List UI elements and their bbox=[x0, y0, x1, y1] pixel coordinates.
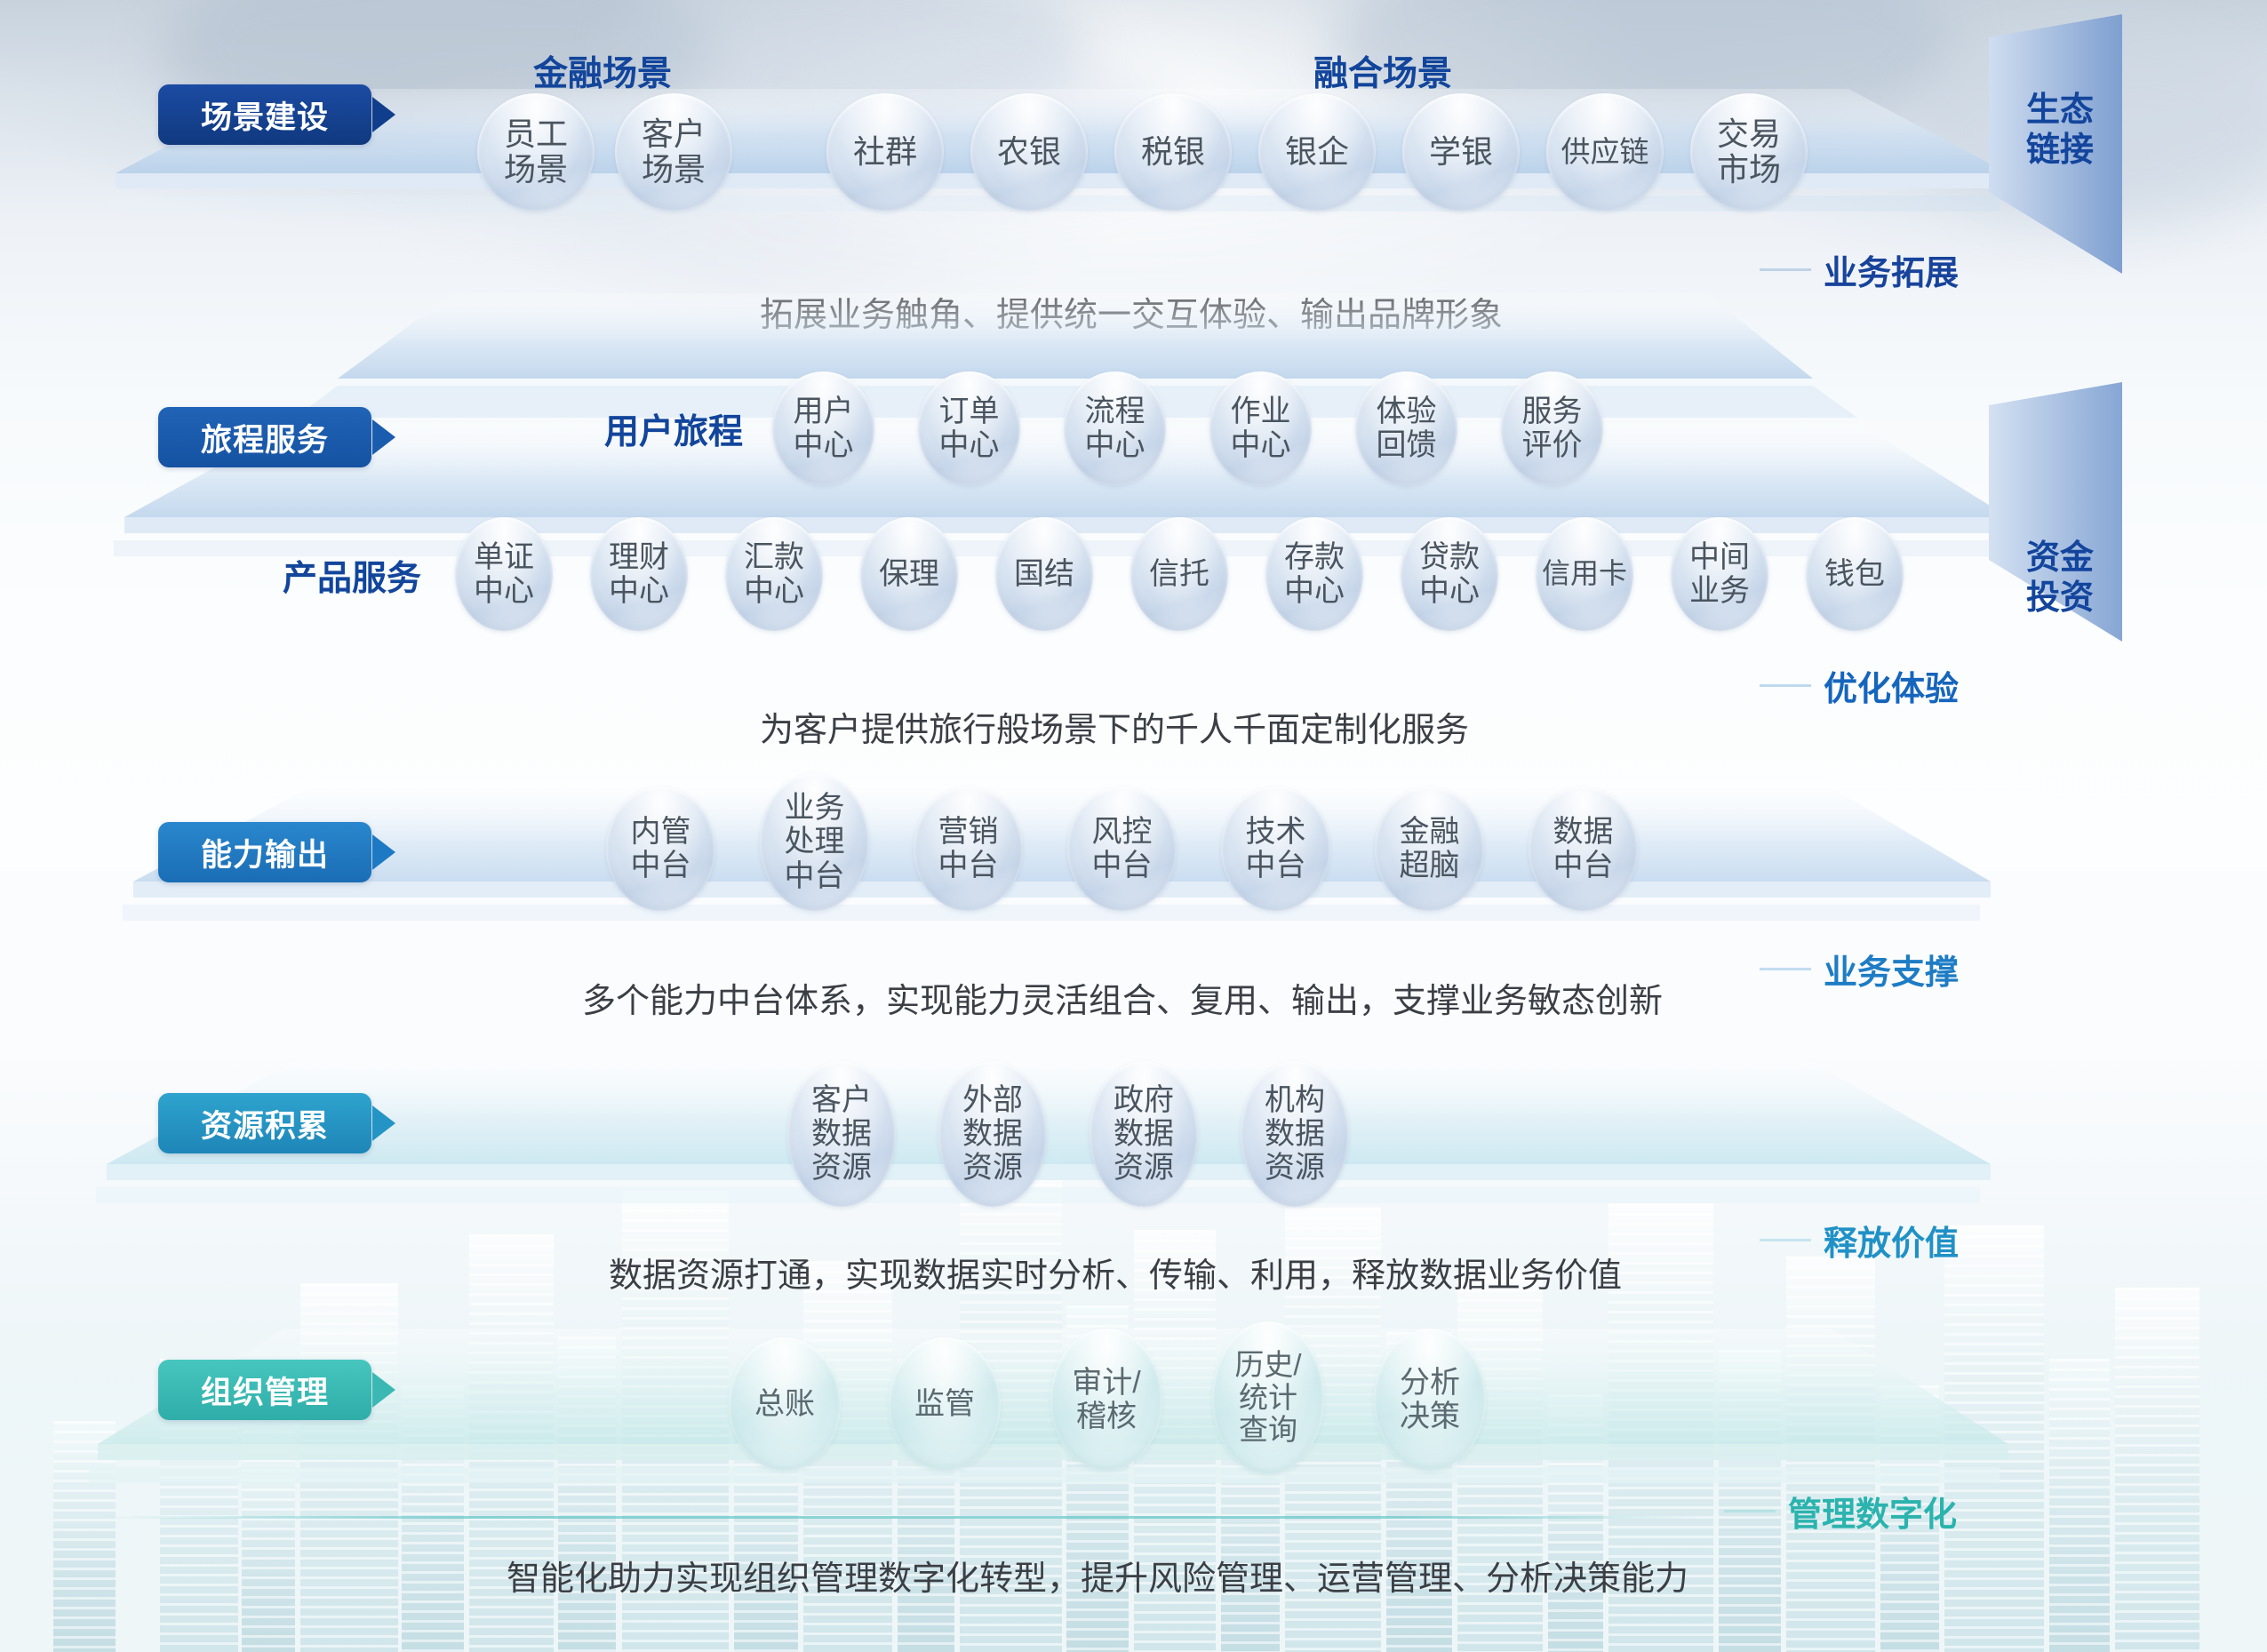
tier-scene-label: 场景建设 bbox=[158, 84, 371, 145]
tier-capability-platform bbox=[107, 782, 2008, 978]
band-label-management-digitalization: 管理数字化 bbox=[1724, 1487, 1957, 1536]
tier-journey-label-text: 旅程服务 bbox=[201, 415, 329, 460]
bubble-product-remittance-center[interactable]: 汇款 中心 bbox=[725, 517, 823, 631]
tier-resource-label: 资源积累 bbox=[158, 1093, 371, 1153]
bubble-scene-trade-market[interactable]: 交易 市场 bbox=[1690, 93, 1808, 211]
tier-organization-platform bbox=[89, 1329, 2008, 1524]
bubble-scene-community[interactable]: 社群 bbox=[826, 93, 944, 211]
bubble-scene-tax-bank[interactable]: 税银 bbox=[1114, 93, 1232, 211]
band-rule-bottom bbox=[107, 1516, 1706, 1519]
tier-capability-label: 能力输出 bbox=[158, 822, 371, 882]
tier-resource-description: 数据资源打通，实现数据实时分析、传输、利用，释放数据业务价值 bbox=[609, 1248, 1622, 1297]
tier-organization-label: 组织管理 bbox=[158, 1360, 371, 1420]
tier-journey-label: 旅程服务 bbox=[158, 407, 371, 467]
bubble-product-intermediary-business[interactable]: 中间 业务 bbox=[1671, 517, 1768, 631]
bubble-capability-business-processing[interactable]: 业务 处理 中台 bbox=[760, 773, 869, 911]
right-banner-ecology: 生态 链接 bbox=[1998, 46, 2122, 215]
band-rule bbox=[1760, 968, 1811, 970]
tier-journey-description: 为客户提供旅行般场景下的千人千面定制化服务 bbox=[760, 702, 1469, 751]
band-label-text: 优化体验 bbox=[1824, 661, 1959, 710]
bubble-scene-school-bank[interactable]: 学银 bbox=[1402, 93, 1520, 211]
band-label-text: 释放价值 bbox=[1824, 1216, 1959, 1265]
band-label-business-support: 业务支撑 bbox=[1760, 945, 1971, 994]
bubble-journey-order-center[interactable]: 订单 中心 bbox=[918, 371, 1020, 485]
tier-nib bbox=[372, 834, 395, 870]
tier-capability-description: 多个能力中台体系，实现能力灵活组合、复用、输出，支撑业务敏态创新 bbox=[582, 973, 1663, 1022]
bubble-capability-technology[interactable]: 技术 中台 bbox=[1221, 786, 1330, 911]
right-banner-ecology-text: 生态 链接 bbox=[2026, 91, 2094, 171]
band-label-text: 业务支撑 bbox=[1824, 945, 1959, 994]
tier-scene-label-text: 场景建设 bbox=[201, 92, 329, 138]
band-label-text: 管理数字化 bbox=[1788, 1487, 1957, 1536]
bubble-capability-risk-control[interactable]: 风控 中台 bbox=[1067, 786, 1177, 911]
bubble-resource-external-data[interactable]: 外部 数据 资源 bbox=[938, 1061, 1047, 1207]
bubble-capability-marketing[interactable]: 营销 中台 bbox=[914, 786, 1023, 911]
bubble-org-analysis-decision[interactable]: 分析 决策 bbox=[1374, 1329, 1486, 1471]
bubble-journey-operation-center[interactable]: 作业 中心 bbox=[1209, 371, 1312, 485]
tier-organization-description: 智能化助力实现组织管理数字化转型，提升风险管理、运营管理、分析决策能力 bbox=[507, 1551, 1688, 1600]
tier-journey-platform bbox=[71, 293, 2008, 702]
band-label-release-value: 释放价值 bbox=[1760, 1216, 1971, 1265]
band-rule bbox=[1760, 684, 1811, 687]
bubble-capability-internal-mgmt[interactable]: 内管 中台 bbox=[606, 786, 715, 911]
band-label-optimize-experience: 优化体验 bbox=[1760, 661, 1971, 710]
band-rule bbox=[1724, 1510, 1776, 1512]
bubble-product-trust[interactable]: 信托 bbox=[1130, 517, 1228, 631]
bubble-journey-process-center[interactable]: 流程 中心 bbox=[1064, 371, 1166, 485]
bubble-journey-user-center[interactable]: 用户 中心 bbox=[772, 371, 874, 485]
bubble-scene-supply-chain[interactable]: 供应链 bbox=[1546, 93, 1664, 211]
group-caption-finance-scene: 金融场景 bbox=[533, 46, 672, 96]
bubble-product-factoring[interactable]: 保理 bbox=[860, 517, 958, 631]
tier-nib bbox=[372, 1372, 395, 1408]
bubble-product-wealth-center[interactable]: 理财 中心 bbox=[590, 517, 688, 631]
bubble-product-deposit-center[interactable]: 存款 中心 bbox=[1265, 517, 1363, 631]
bubble-product-wallet[interactable]: 钱包 bbox=[1806, 517, 1904, 631]
tier-resource-label-text: 资源积累 bbox=[201, 1101, 329, 1146]
tier-resource-platform bbox=[89, 1057, 2008, 1253]
bubble-org-regulation[interactable]: 监管 bbox=[889, 1337, 1001, 1471]
bubble-product-intl-settlement[interactable]: 国结 bbox=[995, 517, 1093, 631]
bubble-org-audit[interactable]: 审计/ 稽核 bbox=[1050, 1329, 1162, 1471]
bubble-resource-customer-data[interactable]: 客户 数据 资源 bbox=[787, 1061, 896, 1207]
bubble-scene-customer[interactable]: 客户 场景 bbox=[615, 93, 732, 211]
bubble-org-history-statistics-query[interactable]: 历史/ 统计 查询 bbox=[1212, 1321, 1324, 1474]
bubble-scene-bank-enterprise[interactable]: 银企 bbox=[1258, 93, 1376, 211]
bubble-journey-service-rating[interactable]: 服务 评价 bbox=[1501, 371, 1603, 485]
band-rule bbox=[1760, 268, 1811, 271]
tier-nib bbox=[372, 97, 395, 132]
tier-nib bbox=[372, 419, 395, 455]
group-caption-fusion-scene: 融合场景 bbox=[1313, 46, 1452, 96]
right-banner-funds: 资金 投资 bbox=[1998, 494, 2122, 663]
bubble-product-document-center[interactable]: 单证 中心 bbox=[455, 517, 553, 631]
bubble-resource-institution-data[interactable]: 机构 数据 资源 bbox=[1241, 1061, 1349, 1207]
bubble-product-credit-card[interactable]: 信用卡 bbox=[1536, 517, 1633, 631]
bubble-capability-data[interactable]: 数据 中台 bbox=[1529, 786, 1638, 911]
tier-nib bbox=[372, 1105, 395, 1141]
band-label-business-expansion: 业务拓展 bbox=[1760, 245, 1971, 294]
band-label-text: 业务拓展 bbox=[1824, 245, 1959, 294]
right-banner-funds-text: 资金 投资 bbox=[2026, 539, 2094, 619]
bubble-scene-agri-bank[interactable]: 农银 bbox=[970, 93, 1088, 211]
bubble-product-loan-center[interactable]: 贷款 中心 bbox=[1401, 517, 1498, 631]
bubble-journey-experience-feedback[interactable]: 体验 回馈 bbox=[1355, 371, 1457, 485]
bubble-scene-staff[interactable]: 员工 场景 bbox=[477, 93, 595, 211]
row-caption-product-service: 产品服务 bbox=[283, 551, 421, 601]
tier-organization-label-text: 组织管理 bbox=[201, 1368, 329, 1413]
row-caption-user-journey: 用户旅程 bbox=[604, 404, 743, 454]
band-rule bbox=[1760, 1239, 1811, 1241]
bubble-org-general-ledger[interactable]: 总账 bbox=[729, 1337, 841, 1471]
tier-capability-label-text: 能力输出 bbox=[201, 830, 329, 875]
bubble-resource-government-data[interactable]: 政府 数据 资源 bbox=[1090, 1061, 1198, 1207]
bubble-capability-financial-brain[interactable]: 金融 超脑 bbox=[1375, 786, 1484, 911]
